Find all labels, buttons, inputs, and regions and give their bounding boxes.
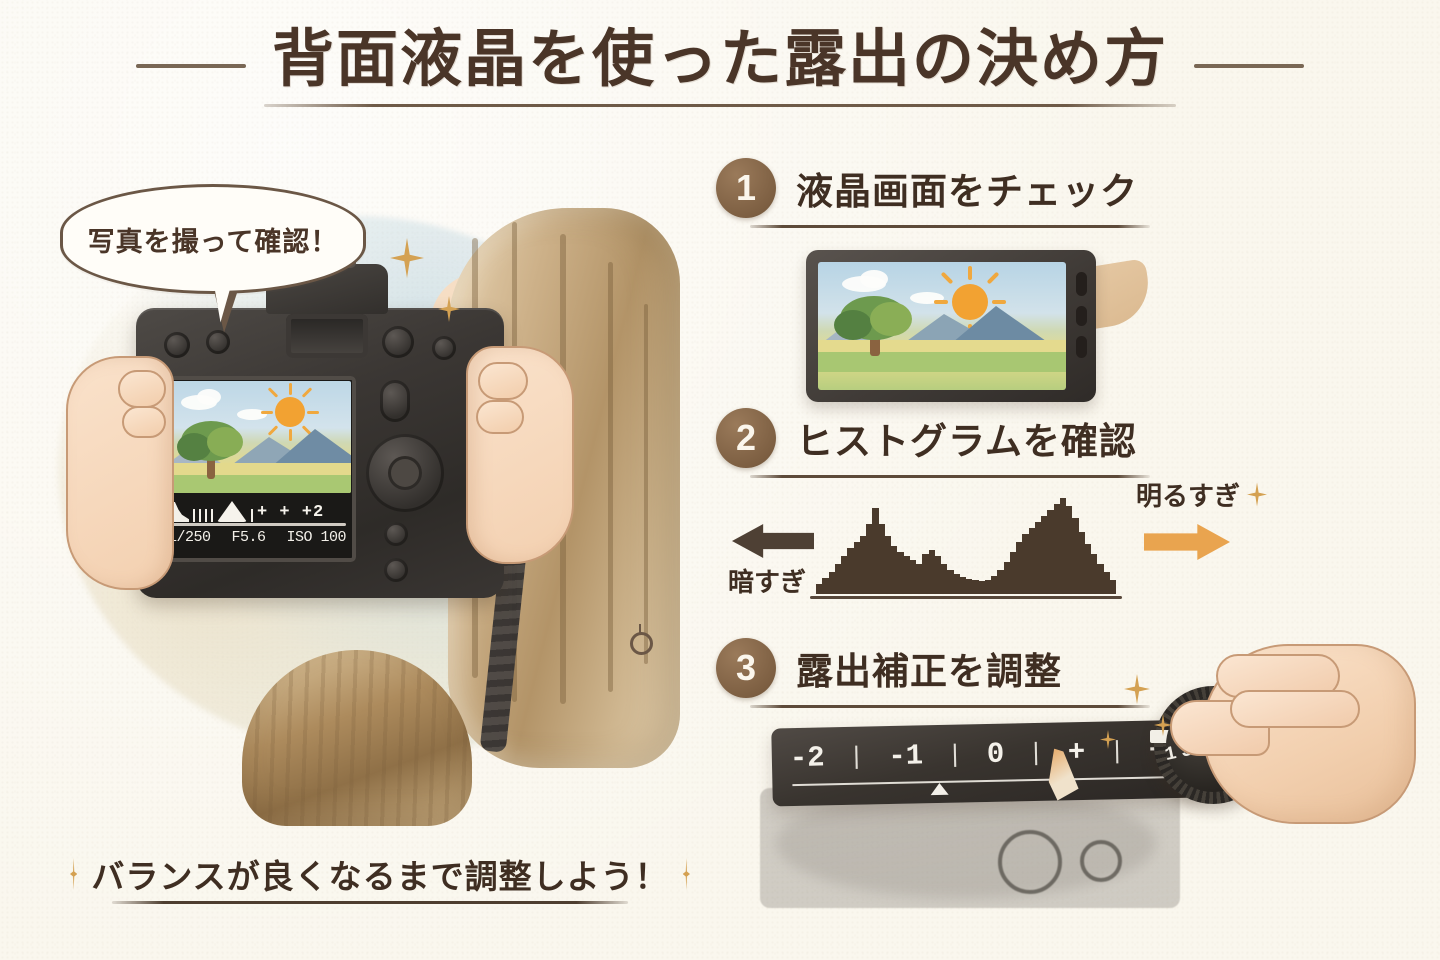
exposure-separator: | — [849, 743, 865, 772]
exposure-tick--2: -2 — [790, 741, 825, 775]
right-hand — [466, 346, 574, 564]
dslr-camera: + + +2 1/250 F5.6 ISO 100 — [136, 308, 504, 598]
exposure-separator: | — [1028, 739, 1044, 768]
lcd-tick — [251, 509, 253, 522]
title-rule-left — [136, 64, 246, 68]
bottom-caption-underline — [112, 901, 628, 904]
step-3: 3 露出補正を調整 -2 | -1 | 0 | + — [716, 638, 1416, 708]
lcd-exposure-marker — [217, 501, 247, 522]
camera-control-wheel — [366, 434, 444, 512]
bottom-caption: バランスが良くなるまで調整しよう！ — [70, 838, 690, 910]
exposure-track — [792, 776, 1182, 786]
lcd-tick — [199, 509, 201, 522]
page-title-bar: 背面液晶を使った露出の決め方 — [0, 24, 1440, 107]
lcd-tick — [211, 509, 213, 522]
camera-ok-button — [388, 456, 422, 490]
speech-bubble-text: 写真を撮って確認！ — [88, 220, 339, 259]
arrow-left-icon — [732, 524, 814, 558]
lcd-tick — [193, 509, 195, 522]
camera-button — [164, 332, 190, 358]
step-2-title: ヒストグラムを確認 — [796, 411, 1137, 465]
left-hand — [66, 356, 174, 590]
step-1-badge: 1 — [716, 158, 776, 218]
sparkle-icon — [1247, 483, 1267, 507]
histogram-baseline — [810, 596, 1122, 599]
step-1-title: 液晶画面をチェック — [796, 161, 1138, 215]
histogram-right-label: 明るすぎ — [1136, 476, 1240, 513]
sparkle-icon — [683, 858, 690, 890]
step-3-badge: 3 — [716, 638, 776, 698]
exposure-tick--1: -1 — [888, 739, 923, 773]
step-2-badge: 2 — [716, 408, 776, 468]
histogram-bar — [1110, 580, 1116, 594]
lcd-monitor-screen — [818, 262, 1066, 390]
histogram-right-label-group: 明るすぎ — [1136, 476, 1267, 513]
lcd-aperture: F5.6 — [231, 529, 265, 546]
step-3-underline — [750, 705, 1150, 708]
camera-button — [1080, 840, 1122, 882]
camera-button — [382, 326, 414, 358]
exposure-tick-plus: + — [1068, 736, 1086, 769]
camera-body-bottom — [760, 788, 1180, 908]
device-button[interactable] — [1076, 336, 1087, 358]
title-rule-right — [1194, 64, 1304, 68]
title-underline — [264, 104, 1176, 107]
lcd-iso: ISO 100 — [286, 529, 346, 546]
step-3-title: 露出補正を調整 — [796, 641, 1062, 695]
exposure-tick-0: 0 — [986, 738, 1004, 771]
device-button[interactable] — [1076, 306, 1087, 326]
page-title-text: 背面液晶を使った露出の決め方 — [272, 24, 1168, 95]
step-2: 2 ヒストグラムを確認 暗すぎ 明るすぎ — [716, 408, 1416, 478]
steps-column: 1 液晶画面をチェック — [716, 158, 1416, 918]
exposure-scale: -2 | -1 | 0 | + | +2 — [790, 734, 1185, 775]
histogram-chart — [816, 498, 1116, 594]
exposure-separator: | — [1109, 737, 1125, 766]
adjusting-hand — [1202, 644, 1416, 824]
lcd-exposure-row: + + +2 — [163, 493, 351, 522]
lcd-meter-line — [168, 523, 346, 526]
lcd-meter-marks: + + +2 — [257, 503, 324, 522]
camera-viewfinder — [286, 314, 368, 358]
lcd-preview-photo — [163, 381, 351, 493]
camera-button — [384, 558, 408, 582]
arrow-right-icon — [1144, 524, 1230, 560]
earring — [630, 632, 653, 655]
exposure-compensation-bar: -2 | -1 | 0 | + | +2 — [771, 720, 1203, 807]
photographer-illustration: 写真を撮って確認！ — [38, 180, 698, 840]
step-1: 1 液晶画面をチェック — [716, 158, 1416, 228]
step-2-header: 2 ヒストグラムを確認 — [716, 408, 1416, 478]
camera-button — [432, 336, 456, 360]
camera-lens-ring — [998, 830, 1062, 894]
lcd-monitor-device — [806, 250, 1096, 402]
camera-button — [380, 380, 410, 422]
infographic-root: 背面液晶を使った露出の決め方 写真を撮って確認！ — [0, 0, 1440, 960]
histogram-left-label: 暗すぎ — [728, 562, 806, 599]
device-button[interactable] — [1076, 272, 1087, 296]
lcd-exposure-info: 1/250 F5.6 ISO 100 — [163, 529, 351, 546]
camera-lcd-screen: + + +2 1/250 F5.6 ISO 100 — [158, 376, 356, 562]
camera-button — [206, 330, 230, 354]
step-1-underline — [750, 225, 1150, 228]
camera-button — [384, 522, 408, 546]
step-1-header: 1 液晶画面をチェック — [716, 158, 1416, 228]
bottom-caption-text: バランスが良くなるまで調整しよう！ — [91, 850, 668, 898]
exposure-separator: | — [947, 741, 963, 770]
lcd-tick — [205, 509, 207, 522]
sparkle-icon — [70, 858, 77, 890]
sun-icon — [275, 397, 305, 427]
step-2-underline — [750, 475, 1150, 478]
lcd-shutter-speed: 1/250 — [168, 529, 211, 546]
exposure-center-marker — [930, 783, 948, 795]
page-title: 背面液晶を使った露出の決め方 — [268, 24, 1172, 107]
